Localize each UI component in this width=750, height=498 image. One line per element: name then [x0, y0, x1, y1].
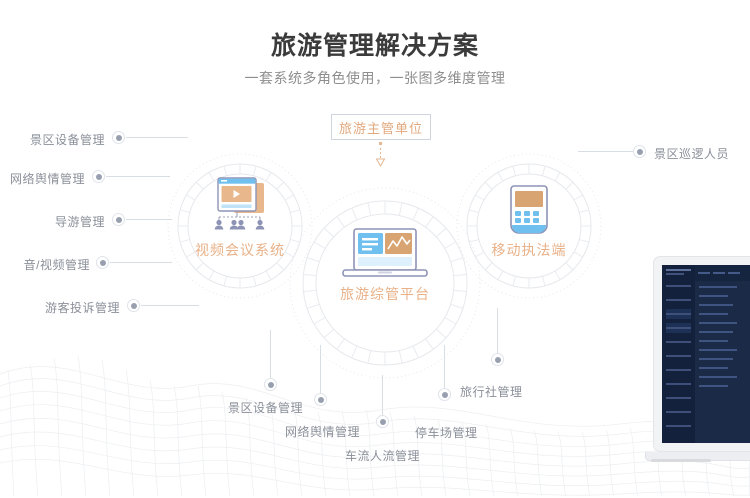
spoke-dot-bottom-3[interactable] — [438, 388, 451, 401]
spoke-line-bottom-1 — [320, 345, 321, 393]
sidebar-row[interactable] — [666, 365, 691, 375]
spoke-label-bottom-1: 网络舆情管理 — [285, 423, 360, 440]
admin-dashboard-laptop-mockup — [645, 256, 750, 471]
sidebar-row[interactable] — [666, 351, 691, 361]
dashboard-main — [695, 265, 750, 443]
sidebar-row[interactable] — [666, 337, 691, 347]
sidebar-row[interactable] — [666, 323, 691, 333]
handheld-device-icon — [506, 184, 552, 239]
spoke-line-bottom-4 — [497, 308, 498, 353]
spoke-label-left-1: 网络舆情管理 — [0, 170, 85, 187]
spoke-line-left-1 — [106, 176, 170, 177]
spoke-line-bottom-0 — [270, 330, 271, 378]
spoke-label-bottom-0: 景区设备管理 — [228, 399, 303, 416]
badge-connector-arrow — [375, 142, 386, 168]
video-window-icon — [208, 176, 272, 231]
page-subtitle: 一套系统多角色使用，一张图多维度管理 — [0, 68, 750, 88]
node-label-mobile-enforcement: 移动执法端 — [459, 240, 599, 260]
spoke-label-right-0: 景区巡逻人员 — [654, 145, 729, 162]
spoke-label-bottom-4: 旅行社管理 — [460, 383, 523, 400]
spoke-line-left-2 — [126, 219, 172, 220]
chevron-down-icon — [377, 159, 385, 166]
spoke-line-right-0 — [578, 151, 633, 152]
sidebar-row[interactable] — [666, 421, 691, 431]
spoke-dot-left-4[interactable] — [127, 299, 140, 312]
laptop-screen — [662, 265, 750, 443]
dashboard-logo — [662, 265, 695, 281]
laptop-dashboard-icon — [337, 228, 433, 278]
spoke-label-left-3: 音/视频管理 — [0, 256, 90, 273]
sidebar-row[interactable] — [666, 407, 691, 417]
spoke-dot-left-0[interactable] — [112, 131, 125, 144]
spoke-line-left-0 — [126, 137, 188, 138]
spoke-dot-right-0[interactable] — [633, 145, 646, 158]
node-label-tourism-platform: 旅游综管平台 — [315, 284, 455, 304]
spoke-label-left-2: 导游管理 — [15, 213, 105, 230]
spoke-dot-bottom-0[interactable] — [264, 378, 277, 391]
spoke-label-bottom-2: 车流人流管理 — [345, 447, 420, 464]
ring-tourism-platform — [288, 186, 482, 380]
dashboard-tree[interactable] — [695, 281, 750, 443]
spoke-line-bottom-2 — [382, 375, 383, 415]
sidebar-row[interactable] — [666, 379, 691, 389]
spoke-dot-bottom-2[interactable] — [376, 415, 389, 428]
spoke-line-left-4 — [141, 305, 199, 306]
spoke-dot-bottom-1[interactable] — [314, 393, 327, 406]
page-title: 旅游管理解决方案 — [0, 26, 750, 62]
solution-diagram-page: 旅游管理解决方案 一套系统多角色使用，一张图多维度管理 — [0, 0, 750, 498]
spoke-label-bottom-3: 停车场管理 — [415, 424, 478, 441]
spoke-dot-bottom-4[interactable] — [491, 353, 504, 366]
dashboard-body — [695, 281, 750, 443]
spoke-label-left-4: 游客投诉管理 — [25, 299, 120, 316]
node-label-video-conference: 视频会议系统 — [170, 240, 310, 260]
sidebar-row[interactable] — [666, 295, 691, 305]
authority-badge-label: 旅游主管单位 — [339, 118, 423, 137]
spoke-line-bottom-3 — [444, 345, 445, 388]
spoke-line-left-3 — [110, 262, 172, 263]
spoke-dot-left-3[interactable] — [96, 256, 109, 269]
spoke-dot-left-1[interactable] — [92, 170, 105, 183]
sidebar-row[interactable] — [666, 393, 691, 403]
sidebar-row[interactable] — [666, 309, 691, 319]
laptop-foot — [651, 459, 711, 462]
sidebar-row[interactable] — [666, 281, 691, 291]
dashboard-sidebar — [662, 265, 695, 443]
spoke-label-left-0: 景区设备管理 — [10, 131, 105, 148]
dashboard-toolbar — [695, 265, 750, 281]
spoke-dot-left-2[interactable] — [112, 213, 125, 226]
authority-badge[interactable]: 旅游主管单位 — [331, 114, 431, 140]
